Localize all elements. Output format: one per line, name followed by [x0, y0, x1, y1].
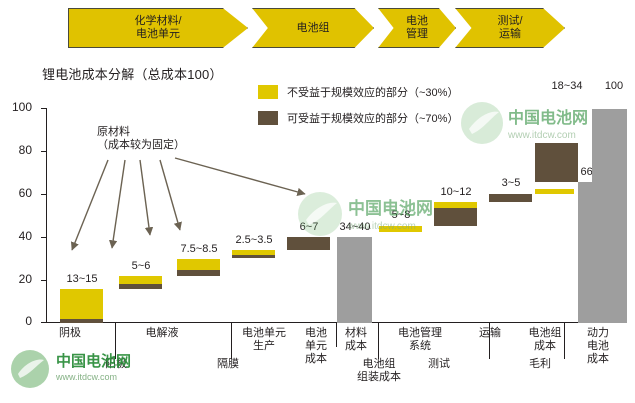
bar-testing[interactable]	[535, 189, 574, 193]
bar-electrolyte[interactable]	[177, 259, 220, 276]
bar-material-cost[interactable]	[379, 226, 422, 231]
bar-segment-no-scale	[177, 259, 220, 271]
x-label-gross-profit: 毛利	[516, 358, 564, 371]
ribbon-step-chemical-materials[interactable]: 化学材料/ 电池单元	[68, 8, 248, 48]
chart-title: 锂电池成本分解（总成本100）	[42, 64, 223, 83]
ribbon-step-line1: 化学材料/	[134, 15, 181, 28]
bar-segment-no-scale	[119, 276, 162, 285]
ribbon-step-line2: 电池单元	[134, 28, 181, 41]
bar-ev-battery-cost-total[interactable]	[592, 109, 627, 323]
x-label-anode: 阳极	[90, 358, 142, 371]
x-label-cell-production: 电池单元 生产	[232, 327, 296, 353]
ribbon-step-battery-pack[interactable]: 电池组	[252, 8, 374, 48]
bar-label-ev-battery-cost-total: 100	[594, 80, 634, 92]
bar-pack-assembly-cost[interactable]	[489, 194, 532, 203]
x-label-testing: 测试	[415, 358, 463, 371]
ribbon-step-line2: 运输	[497, 28, 522, 41]
bar-segment-no-scale	[60, 289, 103, 319]
x-label-ev-battery-cost: 动力 电池 成本	[578, 327, 618, 366]
y-axis-label-80: 80	[4, 143, 32, 157]
x-label-pack-assembly-cost: 电池组 组装成本	[333, 358, 425, 384]
bar-label-gross-profit: 18~34	[539, 80, 595, 92]
raw-material-annotation: 原材料 （成本较为固定）	[97, 126, 185, 152]
ribbon-step-line1: 测试/	[497, 15, 522, 28]
annotation-line2: （成本较为固定）	[97, 139, 185, 152]
bar-segment-no-scale	[535, 189, 574, 193]
watermark-url: www.itdcw.com	[56, 372, 131, 382]
bar-segment-scale	[177, 270, 220, 276]
bar-separator[interactable]	[232, 250, 275, 259]
ribbon-step-test-transport[interactable]: 测试/ 运输	[455, 8, 565, 48]
bar-segment-total	[592, 109, 627, 323]
y-tick-60	[41, 194, 46, 195]
bar-segment-scale	[287, 237, 330, 250]
x-label-bms: 电池管理 系统	[382, 327, 458, 353]
x-label-electrolyte: 电解液	[130, 327, 194, 340]
ribbon-step-line1: 电池组	[297, 22, 330, 35]
ribbon-step-line2: 管理	[406, 28, 428, 41]
y-axis-label-0: 0	[4, 314, 32, 328]
ribbon-step-battery-management[interactable]: 电池 管理	[378, 8, 456, 48]
x-label-cell-cost: 电池 单元 成本	[298, 327, 334, 366]
bar-label-anode: 5~6	[114, 260, 168, 272]
y-axis-label-60: 60	[4, 186, 32, 200]
cat-sep-1	[115, 323, 116, 359]
annotation-line1: 原材料	[97, 126, 185, 139]
y-axis-label-40: 40	[4, 229, 32, 243]
bar-cell-cost-total[interactable]	[337, 237, 372, 323]
bar-label-material-cost: 5~8	[373, 209, 429, 221]
process-ribbon: 化学材料/ 电池单元 电池组 电池 管理 测试/ 运输	[0, 0, 635, 56]
y-tick-20	[41, 280, 46, 281]
y-tick-80	[41, 151, 46, 152]
bar-segment-scale	[232, 255, 275, 259]
bar-cell-production[interactable]	[287, 237, 330, 250]
legend-item-no-scale: 不受益于规模效应的部分（~30%）	[258, 84, 458, 100]
bar-label-cell-cost-total: 34~40	[326, 221, 384, 233]
bar-bms[interactable]	[434, 202, 477, 226]
bar-gross-profit[interactable]	[535, 143, 578, 182]
y-axis-label-20: 20	[4, 272, 32, 286]
legend-label-no-scale: 不受益于规模效应的部分（~30%）	[287, 84, 458, 100]
y-tick-100	[41, 108, 46, 109]
x-label-cathode: 阴极	[42, 327, 98, 340]
bar-segment-scale	[535, 143, 578, 182]
bar-anode[interactable]	[119, 276, 162, 289]
y-tick-0	[41, 322, 46, 323]
y-axis-label-100: 100	[4, 100, 32, 114]
bar-cathode[interactable]	[60, 289, 103, 323]
legend-swatch-no-scale-icon	[258, 85, 278, 99]
ribbon-step-line1: 电池	[406, 15, 428, 28]
watermark-globe-icon	[11, 350, 49, 388]
bar-label-bms: 10~12	[426, 186, 486, 198]
cat-sep-4	[378, 323, 379, 359]
bar-segment-scale	[119, 284, 162, 288]
y-tick-40	[41, 237, 46, 238]
infographic-root: 化学材料/ 电池单元 电池组 电池 管理 测试/ 运输 锂电池成本分解（总成本1…	[0, 0, 635, 403]
x-label-pack-cost: 电池组 成本	[517, 327, 573, 353]
y-axis-line	[46, 108, 47, 323]
x-label-separator: 隔膜	[200, 358, 256, 371]
bar-segment-total	[337, 237, 372, 323]
watermark-bottom-left: 中国电池网 www.itdcw.com	[8, 348, 168, 397]
bar-segment-scale	[60, 319, 103, 323]
x-label-transport: 运输	[466, 327, 514, 340]
bar-segment-scale	[489, 194, 532, 203]
bar-label-separator: 2.5~3.5	[220, 234, 288, 246]
bar-segment-scale	[434, 208, 477, 227]
x-label-material-cost: 材料 成本	[337, 327, 375, 353]
bar-label-cathode: 13~15	[54, 273, 110, 285]
bar-segment-no-scale	[379, 226, 422, 231]
